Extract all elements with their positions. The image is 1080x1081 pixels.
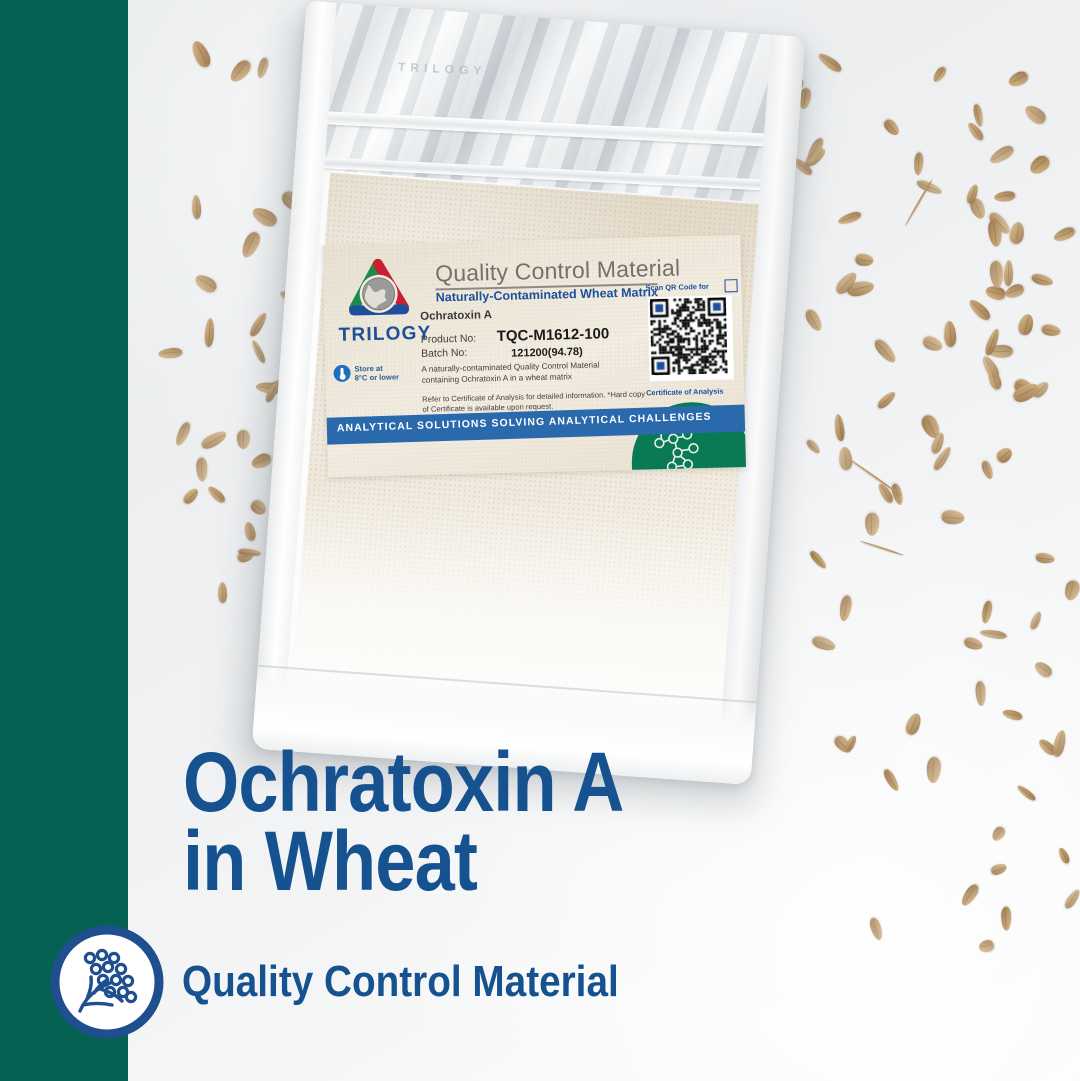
- wheat-grain: [921, 334, 945, 354]
- product-no-value: TQC-M1612-100: [497, 325, 610, 345]
- brand-name: TRILOGY: [338, 323, 431, 347]
- wheat-grain: [816, 51, 844, 75]
- label-tagline: ANALYTICAL SOLUTIONS SOLVING ANALYTICAL …: [337, 412, 712, 435]
- wheat-grain-circle-icon: [50, 925, 164, 1039]
- trilogy-logo: TRILOGY: [335, 257, 423, 351]
- wheat-grain: [871, 336, 899, 365]
- wheat-grain: [804, 437, 822, 455]
- headline-line-1: Ochratoxin A: [183, 743, 624, 822]
- wheat-grain: [989, 261, 1004, 289]
- wheat-grain: [882, 117, 902, 138]
- label-field-values: TQC-M1612-100 121200(94.78): [497, 326, 610, 362]
- storage-instruction: Store at 8°C or lower: [333, 361, 414, 393]
- page-title: Ochratoxin A in Wheat: [183, 743, 624, 901]
- wheat-grain: [1030, 272, 1054, 288]
- qr-scan-badge-icon: [724, 279, 737, 292]
- wheat-grain: [994, 191, 1016, 203]
- wheat-grain: [988, 143, 1016, 166]
- wheat-grain: [1000, 907, 1011, 931]
- wheat-grain: [930, 65, 947, 84]
- headline-line-2: in Wheat: [183, 822, 624, 901]
- wheat-grain: [1004, 259, 1014, 285]
- storage-line-2: 8°C or lower: [355, 372, 400, 382]
- quality-control-material-row: Quality Control Material: [50, 925, 678, 1039]
- batch-no-value: 121200(94.78): [511, 343, 610, 361]
- wheat-grain: [1022, 102, 1049, 127]
- wheat-grain: [834, 414, 847, 442]
- trilogy-globe-triangle-logo-icon: [335, 257, 423, 329]
- qr-code[interactable]: [648, 295, 734, 381]
- wheat-grain: [1006, 69, 1030, 90]
- quality-control-material-caption: Quality Control Material: [182, 957, 619, 1007]
- qr-caption-bottom: Certificate of Analysis: [646, 387, 724, 398]
- pouch-body: TRILOGY: [252, 0, 806, 785]
- label-field-keys: Product No: Batch No:: [421, 332, 477, 361]
- product-label: TRILOGY Quality Control Material Natural…: [322, 235, 746, 477]
- wheat-grain: [944, 320, 958, 347]
- wheat-grain: [836, 209, 862, 226]
- wheat-grain: [1008, 221, 1026, 245]
- batch-no-key: Batch No:: [421, 346, 477, 361]
- product-pouch: TRILOGY: [252, 0, 806, 785]
- wheat-grain: [914, 153, 924, 176]
- wheat-grain: [985, 367, 1003, 392]
- thermometer-icon: [333, 365, 350, 382]
- wheat-grain: [1016, 312, 1035, 336]
- wheat-grain: [1053, 226, 1077, 244]
- left-green-bar: [0, 0, 128, 1081]
- wheat-grain: [875, 389, 898, 411]
- wheat-grain: [1041, 323, 1061, 337]
- product-hero-image: TRILOGY: [0, 0, 1080, 1081]
- wheat-grain: [856, 253, 874, 266]
- product-no-key: Product No:: [421, 332, 477, 347]
- wheat-grain: [1027, 153, 1052, 178]
- qr-caption-top: Scan QR Code for: [645, 282, 708, 293]
- wheat-grain: [966, 297, 992, 322]
- wheat-grain: [803, 307, 825, 333]
- qr-block: Scan QR Code for Certificate of Analysis: [644, 283, 739, 395]
- storage-text: Store at 8°C or lower: [354, 363, 399, 382]
- label-analyte: Ochratoxin A: [420, 309, 492, 323]
- wheat-grain: [218, 582, 228, 603]
